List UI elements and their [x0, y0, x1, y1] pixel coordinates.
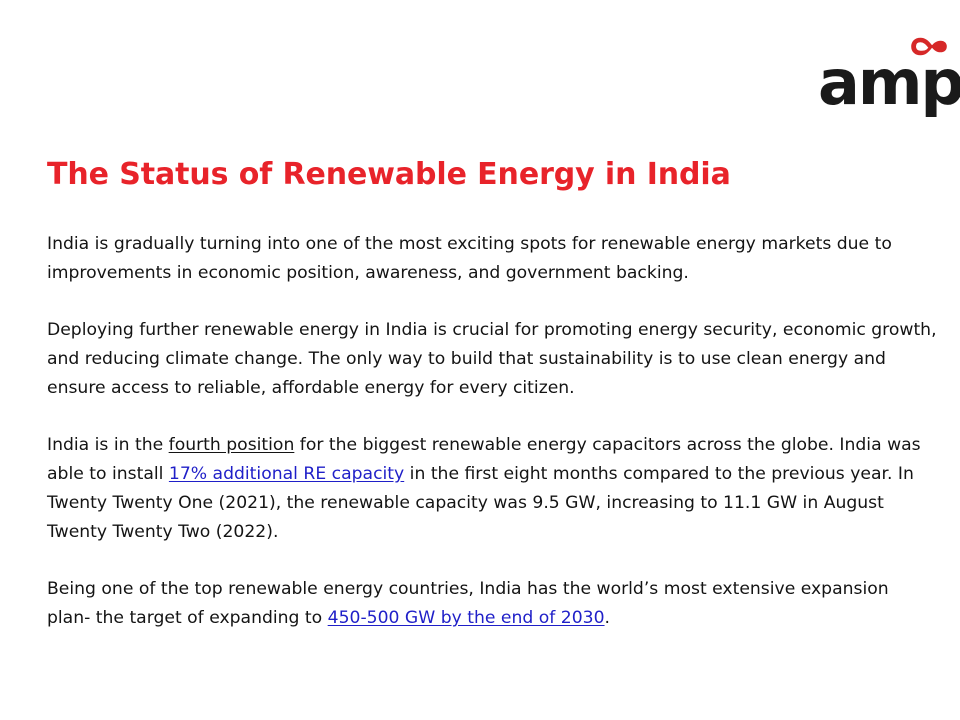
paragraph-deployment: Deploying further renewable energy in In… — [47, 316, 937, 403]
infinity-icon — [910, 30, 952, 66]
inline-link[interactable]: 450-500 GW by the end of 2030 — [328, 608, 605, 628]
paragraph-expansion: Being one of the top renewable energy co… — [47, 575, 937, 633]
inline-link[interactable]: 17% additional RE capacity — [169, 464, 404, 484]
text-run: . — [605, 608, 610, 628]
text-run: India is gradually turning into one of t… — [47, 234, 892, 283]
text-run: India is in the — [47, 435, 169, 455]
text-run: Deploying further renewable energy in In… — [47, 320, 937, 398]
slide-canvas: amp The Status of Renewable Energy in In… — [0, 0, 960, 720]
paragraph-capacity: India is in the fourth position for the … — [47, 431, 937, 547]
page-title: The Status of Renewable Energy in India — [47, 157, 731, 192]
body-content: India is gradually turning into one of t… — [47, 230, 937, 633]
emphasis-underline: fourth position — [169, 435, 295, 455]
brand-logo: amp — [818, 30, 953, 105]
paragraph-intro: India is gradually turning into one of t… — [47, 230, 937, 288]
